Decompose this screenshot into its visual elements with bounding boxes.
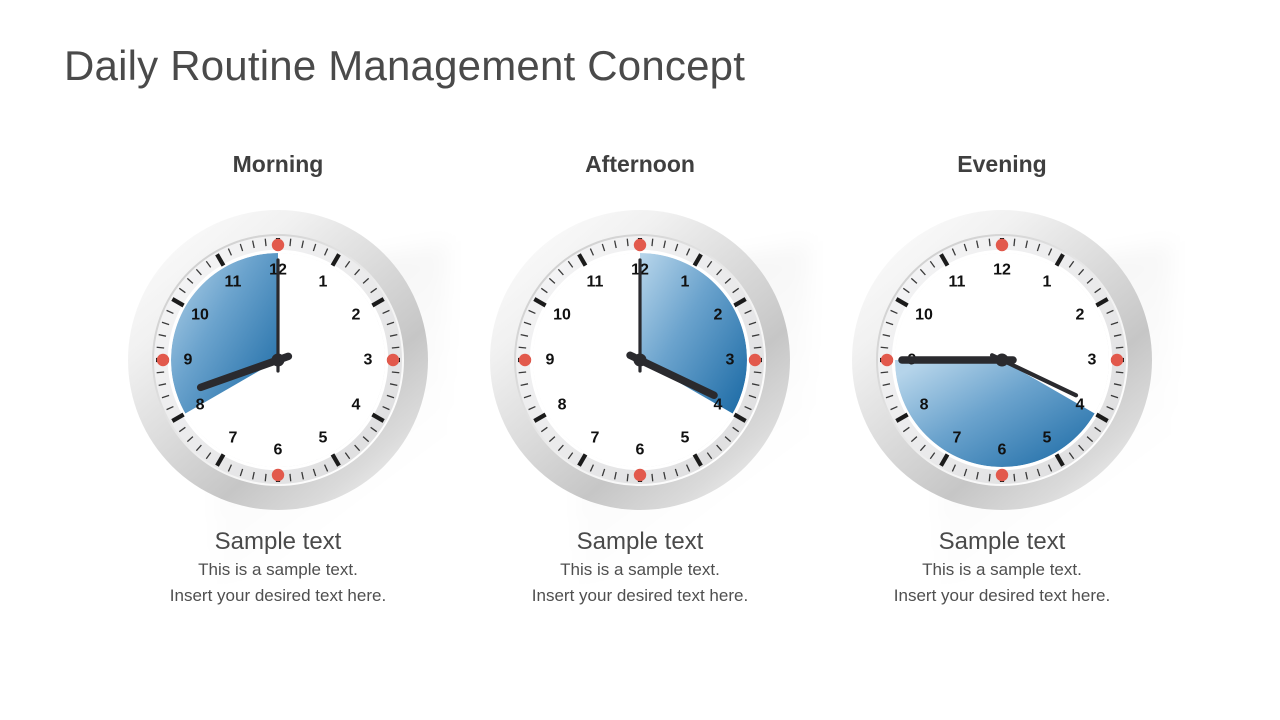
numeral-9: 9	[184, 352, 193, 369]
caption-title: Sample text	[821, 526, 1183, 557]
clock-column-morning: Morning 121234567891011 Sample text This…	[97, 140, 459, 660]
numeral-8: 8	[920, 397, 929, 414]
caption-line-2: Insert your desired text here.	[821, 583, 1183, 609]
minute-tick	[157, 347, 164, 348]
numeral-5: 5	[1043, 429, 1052, 446]
minute-tick	[157, 372, 164, 373]
column-heading: Morning	[97, 140, 459, 176]
marker-dot-3	[749, 354, 761, 366]
clock-caption: Sample text This is a sample text. Inser…	[821, 526, 1183, 608]
clock-column-evening: Evening 121234567891011 Sample text This…	[821, 140, 1183, 660]
marker-dot-12	[634, 239, 646, 251]
numeral-12: 12	[993, 262, 1011, 279]
numeral-5: 5	[319, 429, 328, 446]
minute-tick	[290, 474, 291, 481]
minute-tick	[881, 347, 888, 348]
clock-evening: 121234567891011	[821, 190, 1183, 520]
clock-caption: Sample text This is a sample text. Inser…	[459, 526, 821, 608]
minute-tick	[627, 239, 628, 246]
marker-dot-6	[996, 469, 1008, 481]
clock-dial: 121234567891011	[490, 210, 790, 510]
numeral-1: 1	[681, 274, 690, 291]
minute-tick	[1116, 347, 1123, 348]
marker-dot-6	[272, 469, 284, 481]
minute-tick	[1014, 474, 1015, 481]
clock-center-hub	[996, 354, 1009, 367]
numeral-5: 5	[681, 429, 690, 446]
marker-dot-6	[634, 469, 646, 481]
column-heading: Evening	[821, 140, 1183, 176]
marker-dot-12	[996, 239, 1008, 251]
numeral-10: 10	[553, 307, 571, 324]
numeral-6: 6	[998, 442, 1007, 459]
marker-dot-9	[519, 354, 531, 366]
slide-canvas: Daily Routine Management Concept Morning…	[0, 0, 1280, 720]
column-heading: Afternoon	[459, 140, 821, 176]
caption-title: Sample text	[459, 526, 821, 557]
numeral-2: 2	[713, 307, 722, 324]
clock-morning: 121234567891011	[97, 190, 459, 520]
caption-line-1: This is a sample text.	[459, 557, 821, 583]
minute-tick	[1116, 372, 1123, 373]
numeral-7: 7	[229, 429, 238, 446]
numeral-7: 7	[953, 429, 962, 446]
minute-tick	[290, 239, 291, 246]
minute-tick	[754, 347, 761, 348]
numeral-2: 2	[1075, 307, 1084, 324]
minute-tick	[1014, 239, 1015, 246]
clock-caption: Sample text This is a sample text. Inser…	[97, 526, 459, 608]
numeral-9: 9	[546, 352, 555, 369]
marker-dot-12	[272, 239, 284, 251]
minute-tick	[881, 372, 888, 373]
numeral-4: 4	[1075, 397, 1084, 414]
numeral-10: 10	[915, 307, 933, 324]
clock-center-hub	[634, 354, 647, 367]
caption-title: Sample text	[97, 526, 459, 557]
clock-dial: 121234567891011	[128, 210, 428, 510]
numeral-2: 2	[351, 307, 360, 324]
clock-afternoon: 121234567891011	[459, 190, 821, 520]
numeral-3: 3	[364, 352, 373, 369]
clock-center-hub	[272, 354, 285, 367]
caption-line-1: This is a sample text.	[821, 557, 1183, 583]
numeral-4: 4	[713, 397, 722, 414]
minute-tick	[265, 474, 266, 481]
clock-column-afternoon: Afternoon 121234567891011 Sample text Th…	[459, 140, 821, 660]
numeral-3: 3	[1088, 352, 1097, 369]
numeral-7: 7	[591, 429, 600, 446]
numeral-8: 8	[196, 397, 205, 414]
minute-tick	[519, 347, 526, 348]
marker-dot-3	[387, 354, 399, 366]
minute-tick	[989, 474, 990, 481]
minute-tick	[652, 474, 653, 481]
caption-line-1: This is a sample text.	[97, 557, 459, 583]
marker-dot-3	[1111, 354, 1123, 366]
clock-dial: 121234567891011	[852, 210, 1152, 510]
caption-line-2: Insert your desired text here.	[459, 583, 821, 609]
marker-dot-9	[881, 354, 893, 366]
minute-tick	[392, 372, 399, 373]
numeral-6: 6	[636, 442, 645, 459]
numeral-1: 1	[319, 274, 328, 291]
numeral-6: 6	[274, 442, 283, 459]
numeral-4: 4	[351, 397, 360, 414]
minute-tick	[392, 347, 399, 348]
caption-line-2: Insert your desired text here.	[97, 583, 459, 609]
minute-tick	[989, 239, 990, 246]
minute-tick	[519, 372, 526, 373]
numeral-11: 11	[587, 274, 604, 291]
page-title: Daily Routine Management Concept	[64, 42, 745, 90]
numeral-8: 8	[558, 397, 567, 414]
numeral-11: 11	[949, 274, 966, 291]
marker-dot-9	[157, 354, 169, 366]
numeral-1: 1	[1043, 274, 1052, 291]
clock-columns: Morning 121234567891011 Sample text This…	[0, 140, 1280, 660]
numeral-3: 3	[726, 352, 735, 369]
minute-tick	[627, 474, 628, 481]
minute-tick	[754, 372, 761, 373]
numeral-11: 11	[225, 274, 242, 291]
minute-tick	[652, 239, 653, 246]
numeral-10: 10	[191, 307, 209, 324]
minute-tick	[265, 239, 266, 246]
